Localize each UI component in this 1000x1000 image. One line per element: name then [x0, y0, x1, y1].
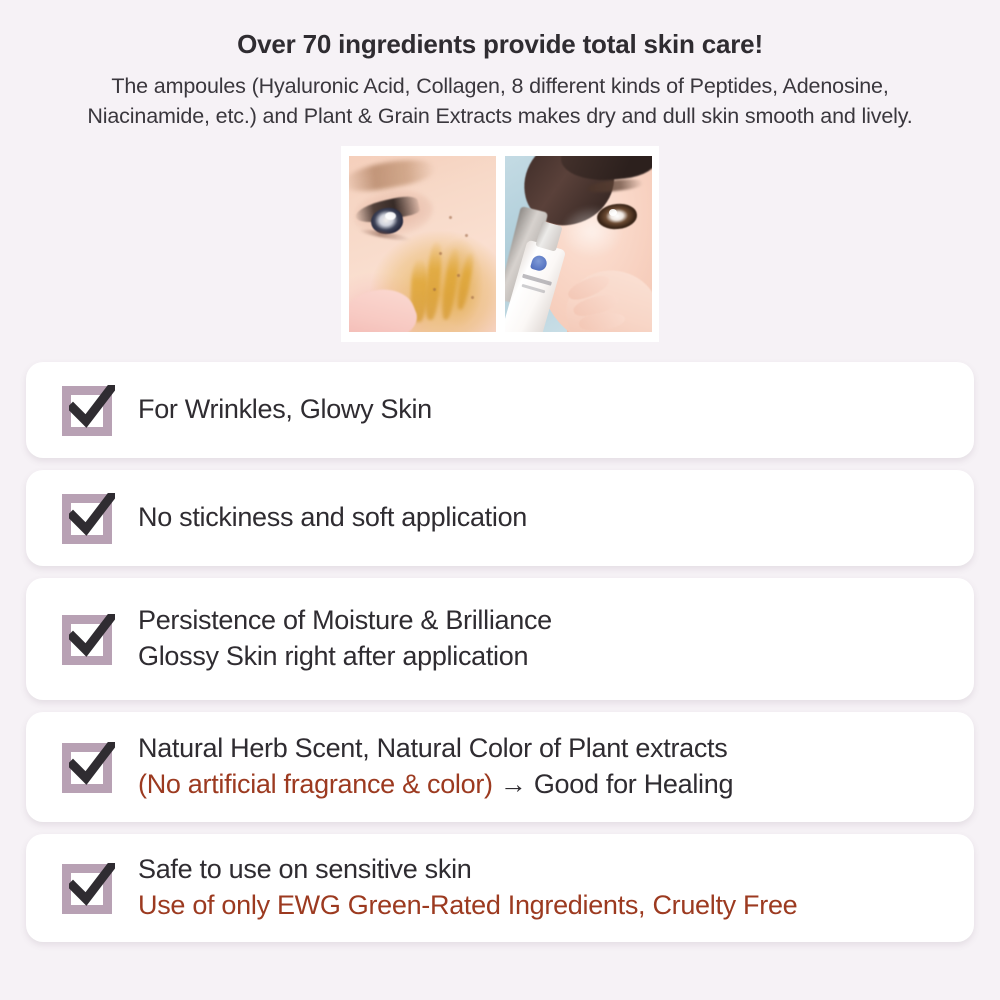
- feature-card: Persistence of Moisture & Brilliance Glo…: [26, 578, 974, 700]
- feature-line: No stickiness and soft application: [138, 500, 952, 536]
- feature-line: Natural Herb Scent, Natural Color of Pla…: [138, 731, 952, 767]
- check-mark-icon: [60, 382, 116, 438]
- photo-eye-closeup-with-serum: [349, 156, 496, 332]
- check-tick-shape: [69, 742, 115, 786]
- page-title: Over 70 ingredients provide total skin c…: [0, 28, 1000, 61]
- check-mark-icon: [60, 739, 116, 795]
- feature-card: Safe to use on sensitive skin Use of onl…: [26, 834, 974, 942]
- feature-text: For Wrinkles, Glowy Skin: [138, 392, 952, 428]
- feature-line-accent: (No artificial fragrance & color): [138, 769, 493, 799]
- feature-card: For Wrinkles, Glowy Skin: [26, 362, 974, 458]
- feature-line: Safe to use on sensitive skin: [138, 852, 952, 888]
- check-mark-icon: [60, 490, 116, 546]
- photo-model-holding-bottle: [505, 156, 652, 332]
- freckle: [439, 252, 442, 255]
- check-tick-shape: [69, 493, 115, 537]
- feature-line: Persistence of Moisture & Brilliance: [138, 603, 952, 639]
- feature-text: No stickiness and soft application: [138, 500, 952, 536]
- feature-text: Persistence of Moisture & Brilliance Glo…: [138, 603, 952, 675]
- check-tick-shape: [69, 614, 115, 658]
- freckle: [471, 296, 474, 299]
- header: Over 70 ingredients provide total skin c…: [0, 0, 1000, 132]
- page-subtitle-line-2: Niacinamide, etc.) and Plant & Grain Ext…: [0, 101, 1000, 132]
- feature-text: Safe to use on sensitive skin Use of onl…: [138, 852, 952, 924]
- freckle: [465, 234, 468, 237]
- eye-glint-shape: [609, 209, 617, 216]
- serum-streak: [440, 248, 461, 321]
- feature-line: Glossy Skin right after application: [138, 639, 952, 675]
- freckle: [433, 288, 436, 291]
- freckle: [457, 274, 460, 277]
- check-tick-shape: [69, 863, 115, 907]
- feature-text: Natural Herb Scent, Natural Color of Pla…: [138, 731, 952, 803]
- feature-line: For Wrinkles, Glowy Skin: [138, 392, 952, 428]
- feature-card: Natural Herb Scent, Natural Color of Pla…: [26, 712, 974, 822]
- feature-line: (No artificial fragrance & color) → Good…: [138, 767, 952, 803]
- check-mark-icon: [60, 611, 116, 667]
- page-subtitle-line-1: The ampoules (Hyaluronic Acid, Collagen,…: [0, 71, 1000, 102]
- feature-line: Use of only EWG Green-Rated Ingredients,…: [138, 888, 952, 924]
- photo-strip: [341, 146, 659, 342]
- check-mark-icon: [60, 860, 116, 916]
- freckle: [449, 216, 452, 219]
- eye-glint-shape: [385, 212, 396, 220]
- page-subtitle: The ampoules (Hyaluronic Acid, Collagen,…: [0, 71, 1000, 132]
- feature-list: For Wrinkles, Glowy Skin No stickiness a…: [0, 362, 1000, 942]
- bottle-pump-cap-shape: [535, 221, 562, 252]
- check-tick-shape: [69, 385, 115, 429]
- feature-card: No stickiness and soft application: [26, 470, 974, 566]
- feature-line-plain: → Good for Healing: [493, 769, 733, 799]
